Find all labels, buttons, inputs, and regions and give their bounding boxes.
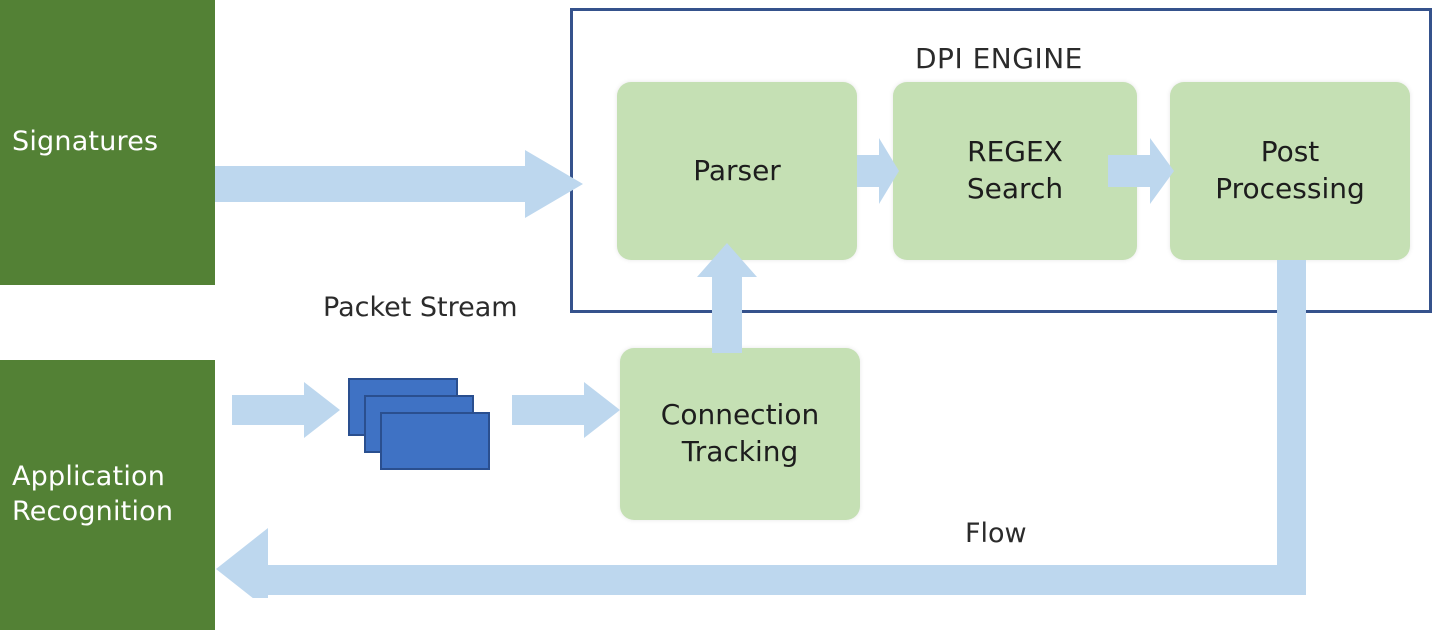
process-box-post-processing[interactable]: Post Processing	[1170, 82, 1410, 260]
arrow-regex-to-post-processing-icon	[1108, 138, 1174, 204]
process-box-parser[interactable]: Parser	[617, 82, 857, 260]
label-packet-stream: Packet Stream	[323, 292, 518, 323]
process-box-regex-search-label: REGEX Search	[967, 134, 1063, 208]
label-flow: Flow	[965, 518, 1027, 549]
process-box-regex-search[interactable]: REGEX Search	[893, 82, 1137, 260]
dpi-engine-title: DPI ENGINE	[915, 42, 1083, 75]
process-box-post-processing-label: Post Processing	[1215, 134, 1365, 208]
source-panel-signatures[interactable]: Signatures	[0, 0, 215, 285]
process-box-parser-label: Parser	[693, 153, 781, 190]
diagram-canvas: Signatures Application Recognition DPI E…	[0, 0, 1440, 630]
source-panel-signatures-label: Signatures	[0, 125, 158, 160]
source-panel-application-recognition-label: Application Recognition	[0, 460, 173, 529]
arrow-parser-to-regex-icon	[857, 138, 899, 204]
source-panel-application-recognition[interactable]: Application Recognition	[0, 360, 215, 630]
arrow-signatures-to-dpi-icon	[215, 150, 583, 218]
